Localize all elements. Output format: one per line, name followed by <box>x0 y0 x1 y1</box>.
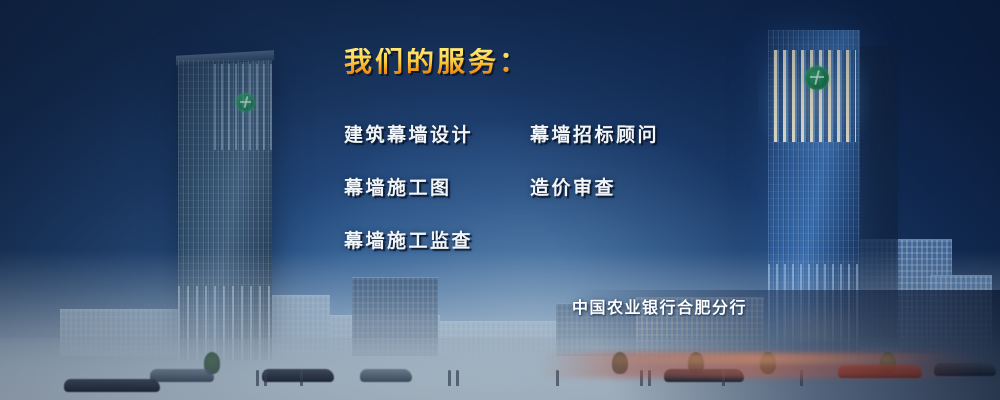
service-row: 幕墙施工监查 <box>344 226 764 253</box>
project-caption: 中国农业银行合肥分行 <box>572 294 747 318</box>
service-item: 幕墙施工监查 <box>344 226 530 253</box>
page-title: 我们的服务： <box>344 48 764 76</box>
service-item: 建筑幕墙设计 <box>344 120 530 147</box>
service-item: 造价审查 <box>530 173 616 200</box>
service-text-block: 我们的服务： 建筑幕墙设计 幕墙招标顾问 幕墙施工图 造价审查 幕墙施工监查 <box>344 48 764 279</box>
service-row: 建筑幕墙设计 幕墙招标顾问 <box>344 120 764 147</box>
service-item: 幕墙施工图 <box>344 173 530 200</box>
service-item: 幕墙招标顾问 <box>530 120 659 147</box>
service-banner: 我们的服务： 建筑幕墙设计 幕墙招标顾问 幕墙施工图 造价审查 幕墙施工监查 中… <box>0 0 1000 400</box>
service-row: 幕墙施工图 造价审查 <box>344 173 764 200</box>
